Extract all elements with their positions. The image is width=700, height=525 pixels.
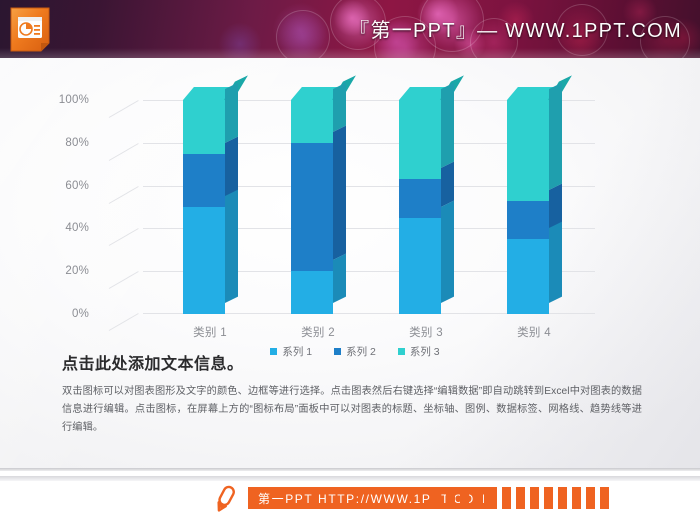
text-heading: 点击此处添加文本信息。 [62, 350, 642, 374]
bar-segment-series2[interactable] [399, 179, 441, 218]
bar-segment-series3[interactable] [507, 100, 549, 201]
bar-group[interactable]: 类别 3 [399, 100, 453, 314]
stripe [558, 487, 567, 509]
x-category-label: 类别 2 [291, 324, 345, 340]
stripe [460, 487, 469, 509]
stripe [474, 487, 483, 509]
y-tick-label: 20% [65, 265, 89, 277]
bar-segment-series1[interactable] [183, 207, 225, 314]
stripe [488, 487, 497, 509]
bar-segment-series2[interactable] [291, 143, 333, 271]
bar-group[interactable]: 类别 1 [183, 100, 237, 314]
pen-icon [212, 484, 238, 514]
bar-segment-series1[interactable] [399, 218, 441, 314]
chart-container[interactable]: 0% 20% 40% 60% 80% 100% [95, 100, 615, 350]
powerpoint-document-icon[interactable] [8, 5, 52, 53]
bar-top-face [291, 87, 333, 100]
x-category-label: 类别 4 [507, 324, 561, 340]
text-paragraph: 双击图标可以对图表图形及文字的颜色、边框等进行选择。点击图表然后右键选择“编辑数… [62, 383, 642, 437]
y-tick-label: 80% [65, 137, 89, 149]
x-category-label: 类别 3 [399, 324, 453, 340]
bar-segment-series2[interactable] [507, 201, 549, 240]
bar-group[interactable]: 类别 2 [291, 100, 345, 314]
stripe [502, 487, 511, 509]
stripe [432, 487, 441, 509]
stripe [530, 487, 539, 509]
footer-stripe-pattern [432, 487, 700, 509]
bar-top-face [507, 87, 549, 100]
y-tick-label: 60% [65, 180, 89, 192]
bar-column[interactable] [291, 87, 333, 314]
plot-area: 类别 1 [143, 100, 595, 314]
bar-segment-series2[interactable] [183, 154, 225, 208]
bar-segment-series1[interactable] [291, 271, 333, 314]
bar-top-face [399, 87, 441, 100]
y-axis: 0% 20% 40% 60% 80% 100% [43, 100, 89, 314]
header-title: 『第一PPT』— WWW.1PPT.COM [349, 14, 682, 43]
slide-canvas: 0% 20% 40% 60% 80% 100% [0, 58, 700, 468]
header-gloss [0, 48, 700, 58]
footer-accent-strip [0, 476, 700, 481]
header-banner: 『第一PPT』— WWW.1PPT.COM [0, 0, 700, 58]
stripe [600, 487, 609, 509]
bar-column[interactable] [183, 87, 225, 314]
bar-column[interactable] [507, 87, 549, 314]
bar-group[interactable]: 类别 4 [507, 100, 561, 314]
bar-segment-series1[interactable] [507, 239, 549, 314]
bar-top-face [183, 87, 225, 100]
y-tick-label: 100% [59, 94, 89, 106]
bar-segment-series3[interactable] [399, 100, 441, 179]
bar-series-group: 类别 1 [143, 100, 595, 314]
bar-column[interactable] [399, 87, 441, 314]
bar-segment-series3[interactable] [291, 100, 333, 143]
stripe [586, 487, 595, 509]
y-tick-label: 40% [65, 222, 89, 234]
stripe [544, 487, 553, 509]
x-category-label: 类别 1 [183, 324, 237, 340]
footer-divider [0, 468, 700, 471]
stripe [516, 487, 525, 509]
bar-segment-series3[interactable] [183, 100, 225, 154]
stripe [572, 487, 581, 509]
text-block[interactable]: 点击此处添加文本信息。 双击图标可以对图表图形及文字的颜色、边框等进行选择。点击… [62, 350, 642, 437]
y-tick-label: 0% [72, 308, 89, 320]
stripe [446, 487, 455, 509]
